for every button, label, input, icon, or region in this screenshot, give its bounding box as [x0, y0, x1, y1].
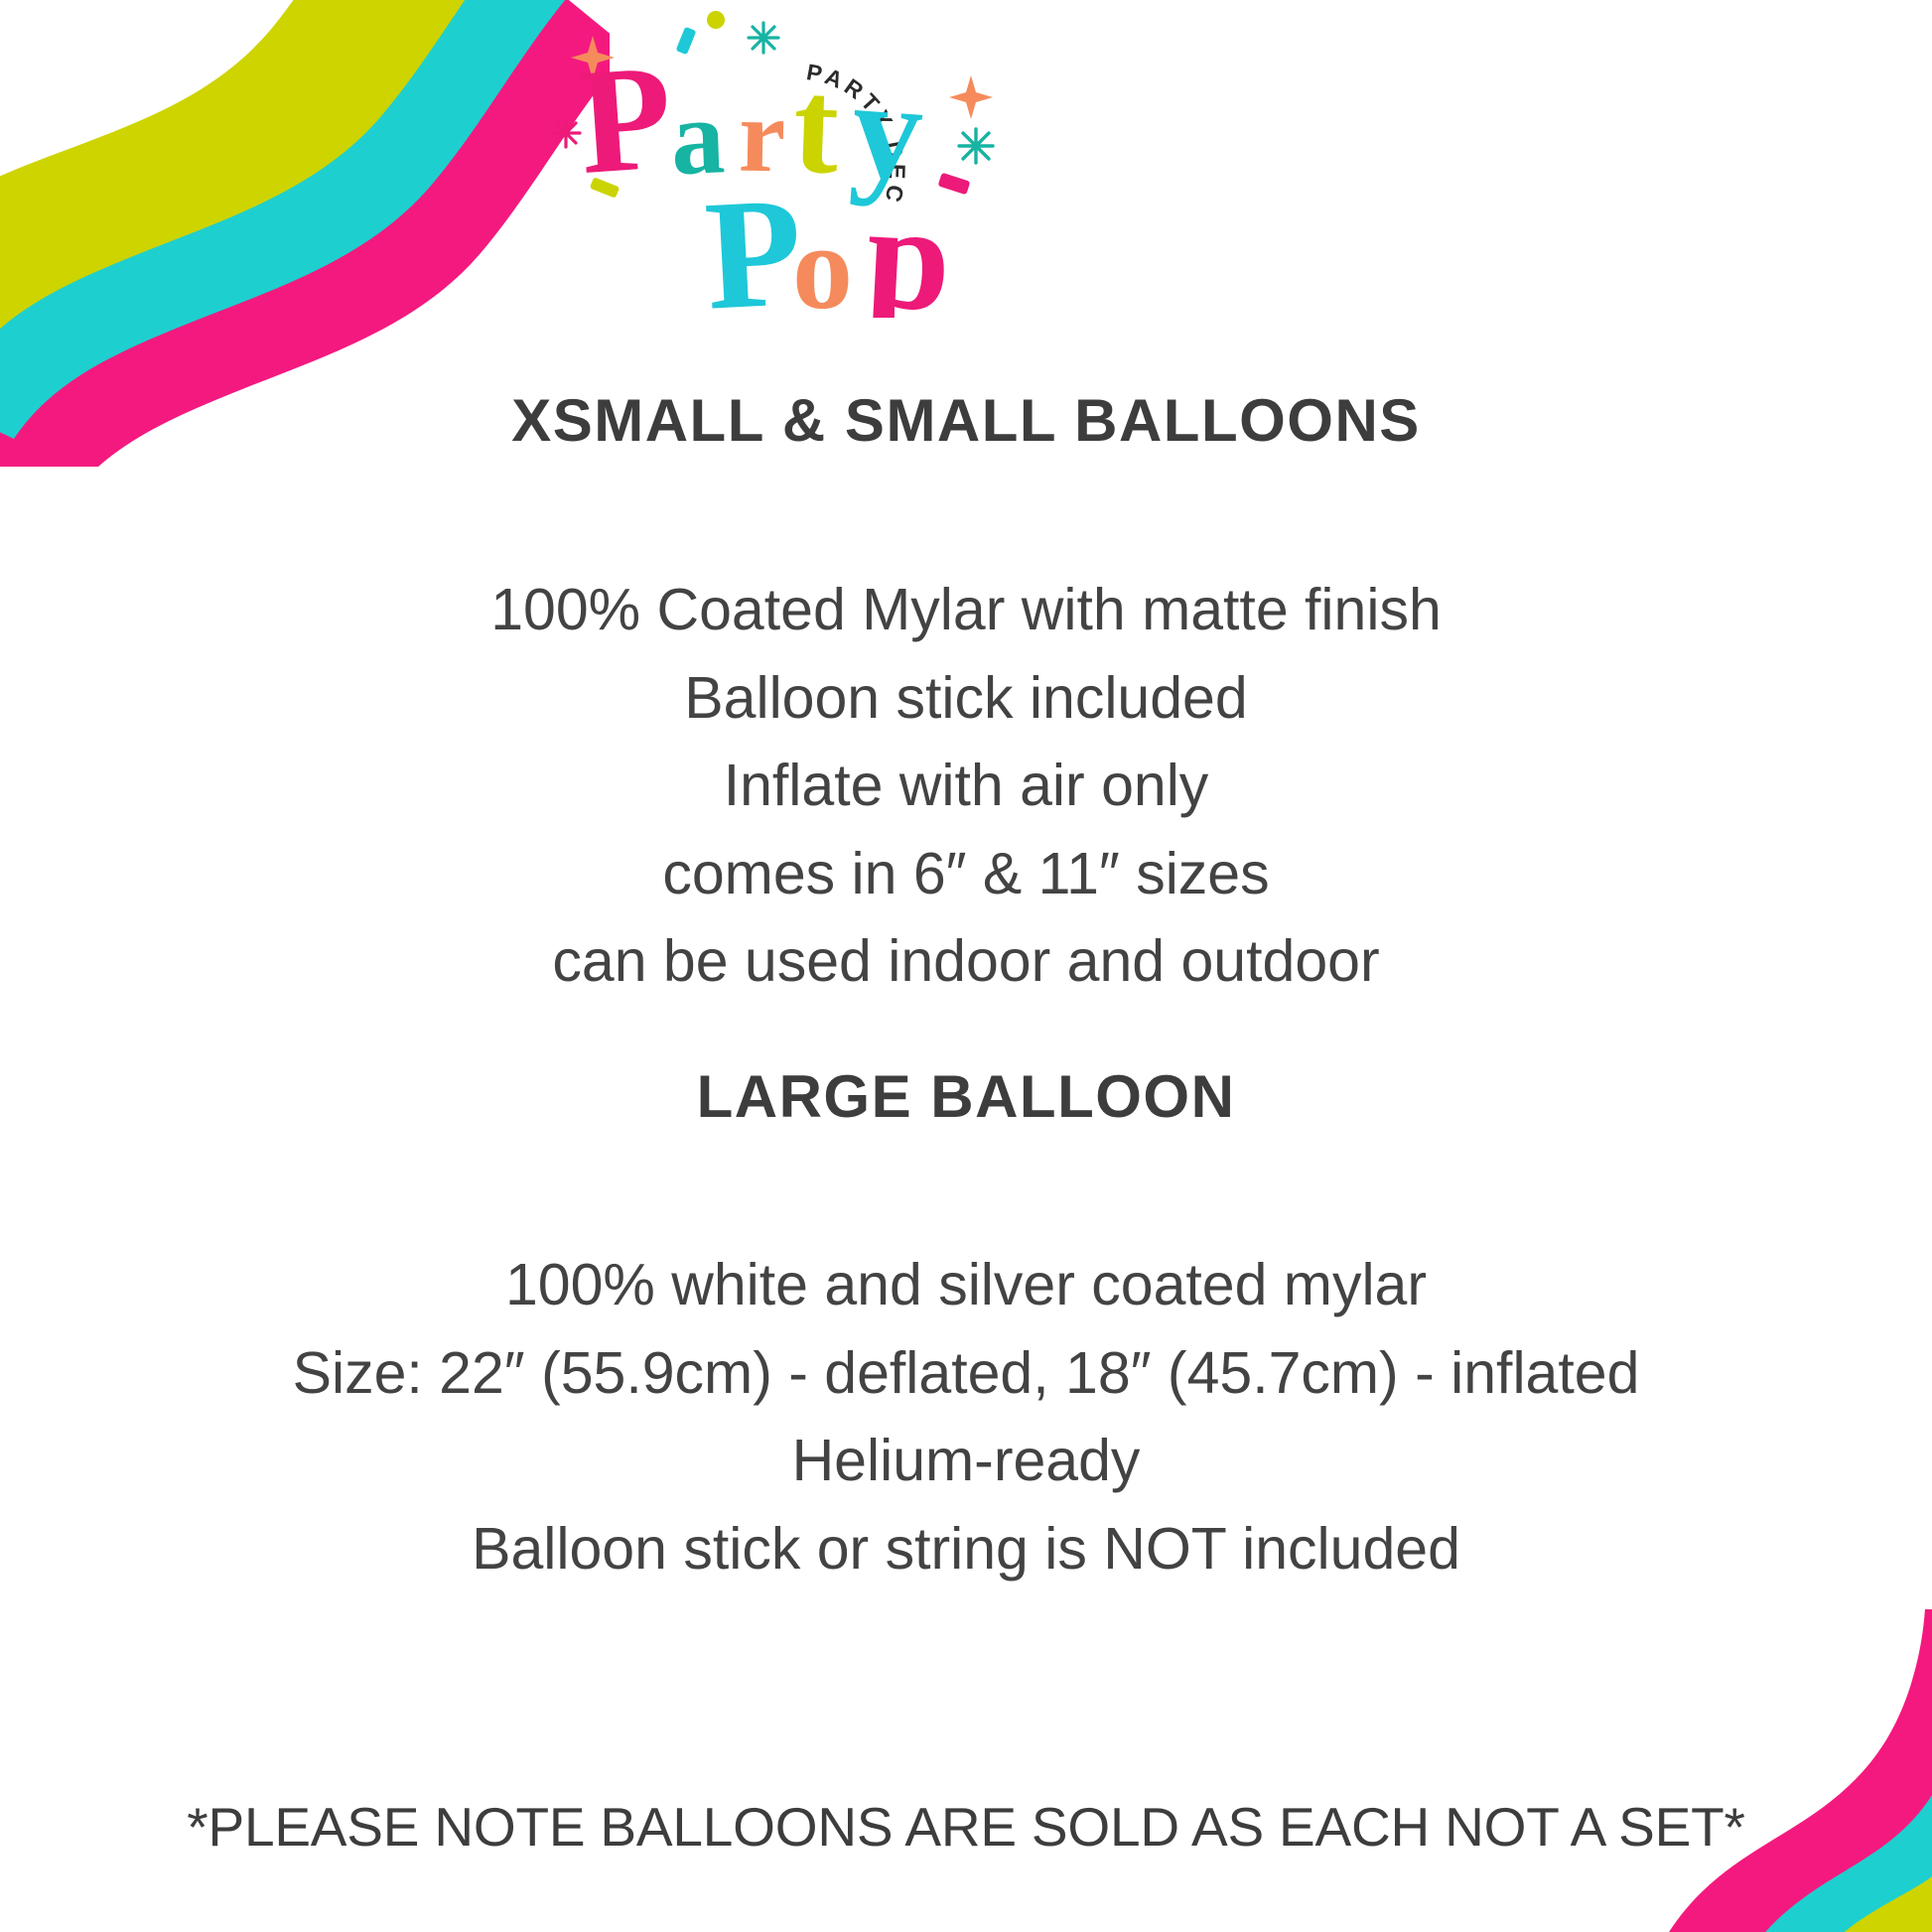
- logo-letter-t: t: [791, 52, 842, 202]
- decorative-wave-bottom-right: [1521, 1609, 1932, 1932]
- section-heading-large-balloon: LARGE BALLOON: [0, 1065, 1932, 1128]
- section-body-large-balloon: 100% white and silver coated mylar Size:…: [0, 1241, 1932, 1592]
- logo-letter-p: p: [863, 172, 955, 318]
- detail-line: Balloon stick included: [0, 654, 1932, 743]
- asterisk-burst-icon: [552, 119, 580, 147]
- wave-band-magenta: [1660, 1609, 1932, 1932]
- detail-line: can be used indoor and outdoor: [0, 917, 1932, 1006]
- section-body-xsmall-small-balloons: 100% Coated Mylar with matte finish Ball…: [0, 566, 1932, 1006]
- tick-rectangle-icon: [676, 27, 697, 56]
- detail-line: 100% Coated Mylar with matte finish: [0, 566, 1932, 654]
- wave-band-yellow: [0, 0, 530, 369]
- section-heading-xsmall-small-balloons: XSMALL & SMALL BALLOONS: [0, 389, 1932, 452]
- sold-as-each-disclaimer: *PLEASE NOTE BALLOONS ARE SOLD AS EACH N…: [0, 1795, 1932, 1859]
- detail-line: Size: 22″ (55.9cm) - deflated, 18″ (45.7…: [182, 1329, 1750, 1418]
- detail-line: Balloon stick or string is NOT included: [0, 1505, 1932, 1593]
- dot-icon: [707, 11, 725, 29]
- wave-band-cyan: [0, 0, 580, 439]
- four-point-star-icon: [949, 75, 993, 119]
- logo-letter-P: P: [701, 165, 806, 318]
- logo-letter-P: P: [574, 33, 677, 206]
- asterisk-burst-icon: [749, 23, 778, 53]
- detail-line: comes in 6″ & 11″ sizes: [0, 830, 1932, 918]
- asterisk-burst-icon: [959, 129, 993, 163]
- logo-letter-o: o: [792, 201, 853, 318]
- detail-line: Helium-ready: [0, 1417, 1932, 1505]
- product-info-graphic: PARTY DECOR P a r t y P o p XSMALL & SMA…: [0, 0, 1932, 1932]
- detail-line: Inflate with air only: [0, 742, 1932, 830]
- detail-line: 100% white and silver coated mylar: [0, 1241, 1932, 1329]
- brand-logo: PARTY DECOR P a r t y P o p: [536, 10, 1033, 318]
